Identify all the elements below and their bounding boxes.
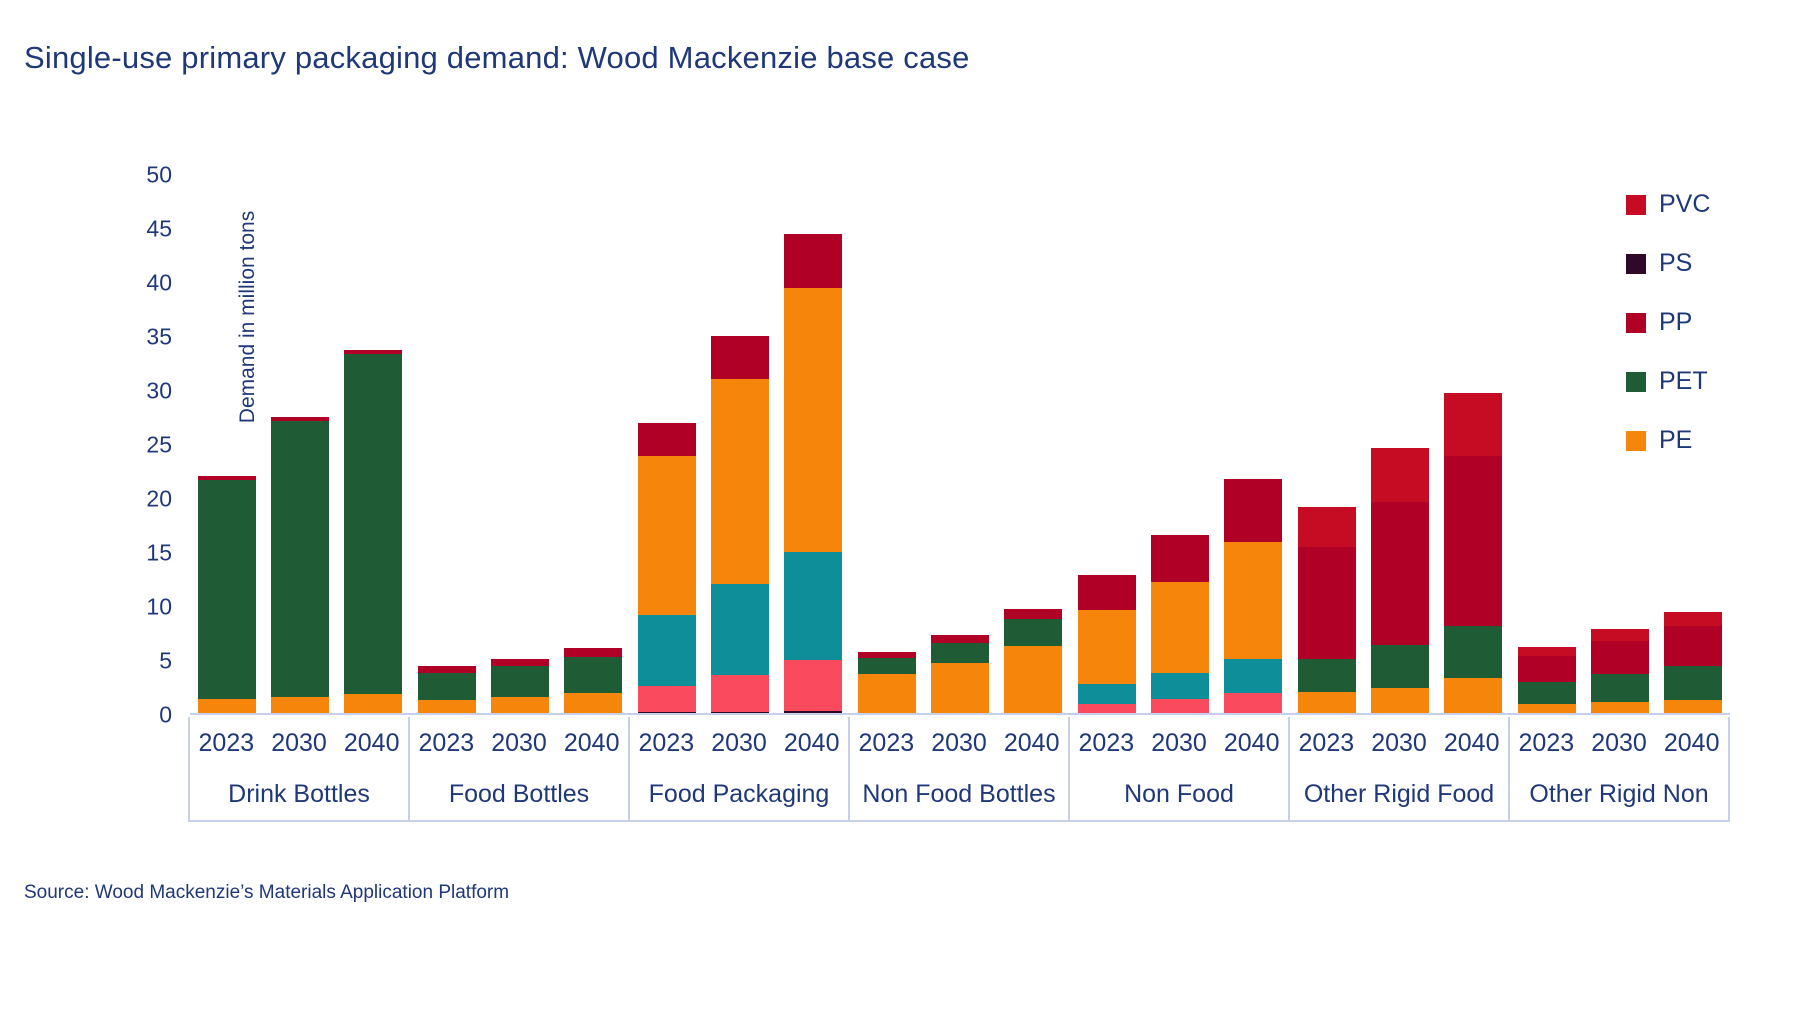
x-group-other-rigid-non: 202320302040Other Rigid Non (1508, 717, 1730, 822)
x-year-label[interactable]: 2023 (1070, 729, 1143, 758)
x-year-row: 202320302040 (850, 717, 1068, 769)
bar-segment-pet (1518, 682, 1576, 705)
bar-food-packaging-2040[interactable] (784, 234, 842, 715)
bar-segment-pp (491, 659, 549, 667)
x-group-label: Drink Bottles (190, 769, 408, 820)
bar-segment-pe (784, 288, 842, 552)
page-title: Single-use primary packaging demand: Woo… (24, 40, 970, 76)
x-year-label[interactable]: 2040 (1215, 729, 1288, 758)
bar-food-bottles-2030[interactable] (491, 659, 549, 715)
bar-other-rigid-food-2040[interactable] (1444, 393, 1502, 715)
bar-non-food-2023[interactable] (1078, 575, 1136, 715)
bar-segment-pe (1444, 678, 1502, 715)
bar-segment-pvc (1371, 448, 1429, 502)
bar-drink-bottles-2023[interactable] (198, 476, 256, 715)
bars-layer (190, 175, 1730, 715)
bar-segment-pe (1151, 582, 1209, 673)
bar-non-food-2040[interactable] (1224, 478, 1282, 715)
legend-item-pet[interactable]: PET (1626, 352, 1710, 411)
x-year-label[interactable]: 2030 (1143, 729, 1216, 758)
x-axis-label-table: 202320302040Drink Bottles202320302040Foo… (190, 717, 1730, 822)
y-tick-label: 30 (122, 378, 172, 405)
bar-segment-pp (1151, 535, 1209, 583)
bar-segment-pp (1591, 641, 1649, 674)
bar-other-rigid-food-2030[interactable] (1371, 448, 1429, 715)
bar-segment-pet (858, 658, 916, 674)
bar-segment-pp (1664, 626, 1722, 666)
bar-food-bottles-2023[interactable] (418, 666, 476, 715)
x-year-label[interactable]: 2023 (1290, 729, 1363, 758)
legend-label: PE (1659, 426, 1692, 455)
x-year-label[interactable]: 2040 (1435, 729, 1508, 758)
bar-non-food-bottles-2030[interactable] (931, 635, 989, 715)
x-group-non-food-bottles: 202320302040Non Food Bottles (848, 717, 1070, 822)
x-axis-line (190, 713, 1730, 715)
bar-segment-series_teal (1078, 684, 1136, 705)
x-group-food-packaging: 202320302040Food Packaging (628, 717, 850, 822)
bar-segment-pp (1004, 609, 1062, 619)
y-tick-label: 40 (122, 270, 172, 297)
y-tick-label: 20 (122, 486, 172, 513)
bar-segment-pet (564, 657, 622, 694)
legend-item-pe[interactable]: PE (1626, 411, 1710, 470)
bar-segment-pet (1591, 674, 1649, 702)
bar-segment-pp (784, 234, 842, 288)
bar-segment-pe (931, 663, 989, 715)
bar-segment-pp (1444, 456, 1502, 627)
x-year-row: 202320302040 (410, 717, 628, 769)
x-year-row: 202320302040 (1290, 717, 1508, 769)
bar-non-food-2030[interactable] (1151, 535, 1209, 715)
x-year-label[interactable]: 2030 (1363, 729, 1436, 758)
x-year-label[interactable]: 2040 (995, 729, 1068, 758)
y-tick-label: 50 (122, 162, 172, 189)
x-year-label[interactable]: 2030 (1583, 729, 1656, 758)
y-tick-label: 10 (122, 594, 172, 621)
x-year-label[interactable]: 2040 (555, 729, 628, 758)
bar-drink-bottles-2040[interactable] (344, 350, 402, 715)
x-year-label[interactable]: 2023 (410, 729, 483, 758)
legend-swatch-icon (1626, 195, 1646, 215)
x-group-label: Non Food Bottles (850, 769, 1068, 820)
bar-segment-pet (418, 673, 476, 700)
x-year-label[interactable]: 2040 (1655, 729, 1728, 758)
bar-segment-series_pink (1224, 693, 1282, 715)
bar-food-packaging-2023[interactable] (638, 423, 696, 715)
bar-segment-series_teal (1224, 659, 1282, 694)
y-tick-label: 0 (122, 702, 172, 729)
bar-non-food-bottles-2023[interactable] (858, 652, 916, 715)
bar-other-rigid-non-2023[interactable] (1518, 647, 1576, 715)
bar-segment-pe (1298, 692, 1356, 715)
bar-segment-pet (344, 354, 402, 694)
y-tick-label: 15 (122, 540, 172, 567)
bar-segment-pvc (1591, 629, 1649, 641)
legend-swatch-icon (1626, 372, 1646, 392)
legend-swatch-icon (1626, 254, 1646, 274)
legend-label: PP (1659, 308, 1692, 337)
x-year-row: 202320302040 (1510, 717, 1728, 769)
bar-segment-pp (564, 648, 622, 657)
y-tick-label: 25 (122, 432, 172, 459)
bar-segment-series_teal (638, 615, 696, 686)
bar-segment-pvc (1444, 393, 1502, 456)
bar-food-bottles-2040[interactable] (564, 648, 622, 715)
x-year-label[interactable]: 2023 (190, 729, 263, 758)
y-tick-label: 5 (122, 648, 172, 675)
bar-food-packaging-2030[interactable] (711, 336, 769, 715)
bar-segment-pp (1078, 575, 1136, 611)
bar-segment-pet (1298, 659, 1356, 692)
bar-segment-series_teal (1151, 673, 1209, 699)
x-group-food-bottles: 202320302040Food Bottles (408, 717, 630, 822)
bar-segment-series_pink (638, 686, 696, 712)
x-year-label[interactable]: 2030 (483, 729, 556, 758)
bar-segment-series_pink (711, 675, 769, 712)
x-group-other-rigid-food: 202320302040Other Rigid Food (1288, 717, 1510, 822)
x-group-label: Other Rigid Food (1290, 769, 1508, 820)
x-group-label: Other Rigid Non (1510, 769, 1728, 820)
bar-segment-pe (1371, 688, 1429, 715)
source-note: Source: Wood Mackenzie’s Materials Appli… (24, 882, 509, 904)
bar-segment-pe (1078, 610, 1136, 683)
x-year-row: 202320302040 (190, 717, 408, 769)
bar-segment-pet (931, 643, 989, 664)
bar-drink-bottles-2030[interactable] (271, 417, 329, 715)
bar-segment-pp (638, 423, 696, 455)
legend-label: PET (1659, 367, 1708, 396)
legend: PVCPSPPPETPE (1626, 175, 1710, 470)
bar-segment-pet (491, 666, 549, 696)
bar-segment-pe (1004, 646, 1062, 715)
bar-segment-pe (1224, 542, 1282, 659)
bar-segment-pe (344, 694, 402, 715)
bar-non-food-bottles-2040[interactable] (1004, 609, 1062, 715)
bar-segment-pe (858, 674, 916, 715)
bar-segment-pet (1444, 626, 1502, 678)
bar-segment-pet (1371, 645, 1429, 688)
bar-segment-pp (711, 336, 769, 379)
bar-segment-series_teal (784, 552, 842, 660)
legend-item-pvc[interactable]: PVC (1626, 175, 1710, 234)
y-tick-label: 45 (122, 216, 172, 243)
x-year-row: 202320302040 (1070, 717, 1288, 769)
bar-other-rigid-non-2030[interactable] (1591, 629, 1649, 715)
legend-label: PVC (1659, 190, 1710, 219)
plot-area: Demand in million tons 05101520253035404… (190, 175, 1730, 715)
x-year-label[interactable]: 2040 (335, 729, 408, 758)
bar-segment-series_teal (711, 584, 769, 675)
x-year-label[interactable]: 2023 (850, 729, 923, 758)
x-year-label[interactable]: 2023 (1510, 729, 1583, 758)
bar-segment-pvc (1518, 647, 1576, 656)
bar-segment-pet (271, 421, 329, 696)
bar-segment-pvc (1298, 507, 1356, 547)
bar-segment-pet (1004, 619, 1062, 646)
bar-segment-pp (1224, 479, 1282, 543)
legend-item-ps[interactable]: PS (1626, 234, 1710, 293)
x-group-drink-bottles: 202320302040Drink Bottles (188, 717, 410, 822)
bar-segment-pvc (1664, 612, 1722, 626)
x-year-row: 202320302040 (630, 717, 848, 769)
legend-label: PS (1659, 249, 1692, 278)
bar-other-rigid-non-2040[interactable] (1664, 612, 1722, 715)
bar-segment-pe (711, 379, 769, 584)
x-group-non-food: 202320302040Non Food (1068, 717, 1290, 822)
bar-segment-pp (1518, 656, 1576, 682)
x-year-label[interactable]: 2030 (263, 729, 336, 758)
x-year-label[interactable]: 2030 (703, 729, 776, 758)
bar-segment-pp (931, 635, 989, 643)
x-year-label[interactable]: 2023 (630, 729, 703, 758)
bar-segment-series_pink (784, 660, 842, 711)
legend-swatch-icon (1626, 431, 1646, 451)
bar-segment-pet (198, 480, 256, 699)
bar-segment-pp (1298, 547, 1356, 659)
bar-other-rigid-food-2023[interactable] (1298, 507, 1356, 715)
bar-segment-pe (564, 693, 622, 715)
x-year-label[interactable]: 2040 (775, 729, 848, 758)
x-group-label: Non Food (1070, 769, 1288, 820)
x-year-label[interactable]: 2030 (923, 729, 996, 758)
bar-segment-pp (1371, 502, 1429, 645)
legend-item-pp[interactable]: PP (1626, 293, 1710, 352)
bar-segment-pe (638, 456, 696, 615)
x-group-label: Food Bottles (410, 769, 628, 820)
y-tick-label: 35 (122, 324, 172, 351)
bar-segment-pet (1664, 666, 1722, 699)
legend-swatch-icon (1626, 313, 1646, 333)
x-group-label: Food Packaging (630, 769, 848, 820)
